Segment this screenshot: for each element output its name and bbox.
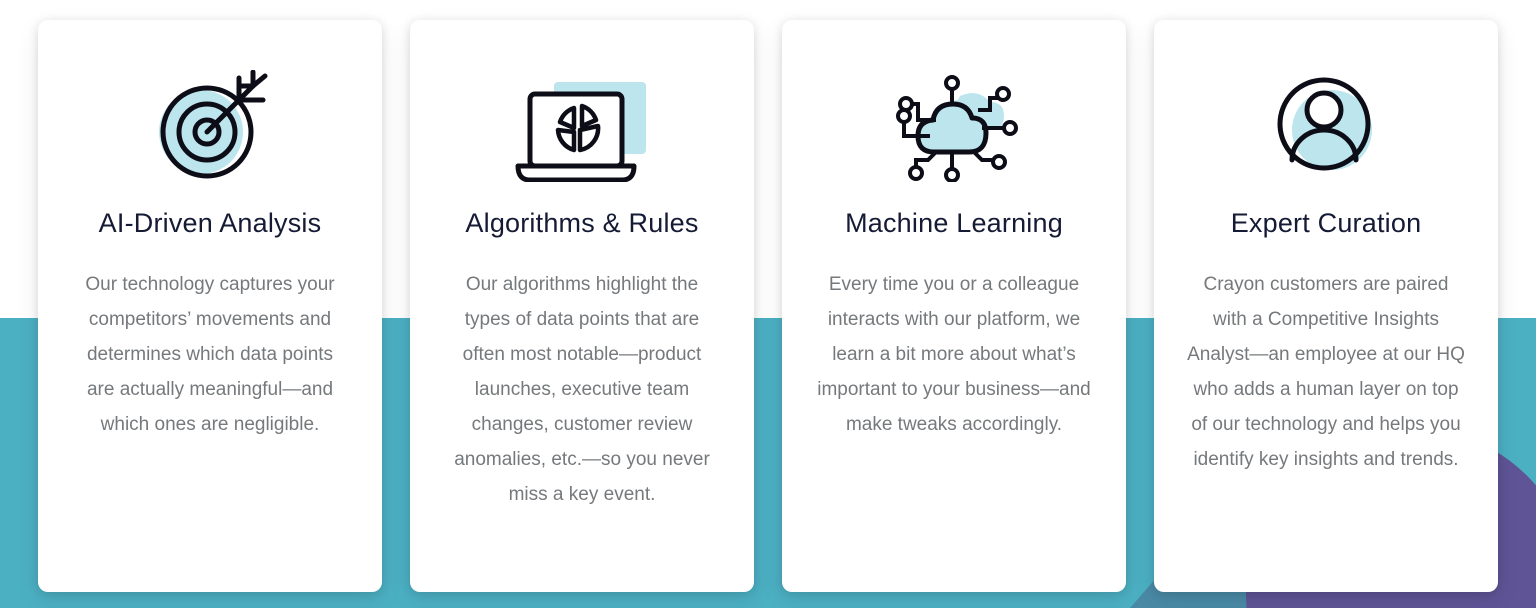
card-body-text: Every time you or a colleague interacts … [815,267,1093,442]
target-arrow-icon [60,66,360,186]
laptop-pie-chart-icon [432,66,732,186]
feature-card-algorithms-and-rules[interactable]: Algorithms & Rules Our algorithms highli… [410,20,754,592]
feature-card-ai-driven-analysis[interactable]: AI-Driven Analysis Our technology captur… [38,20,382,592]
feature-card-machine-learning[interactable]: Machine Learning Every time you or a col… [782,20,1126,592]
card-title: AI-Driven Analysis [99,208,322,239]
feature-card-expert-curation[interactable]: Expert Curation Crayon customers are pai… [1154,20,1498,592]
card-body-text: Our technology captures your competitors… [71,267,349,442]
feature-card-grid: AI-Driven Analysis Our technology captur… [38,20,1498,592]
card-title: Machine Learning [845,208,1063,239]
person-avatar-icon [1176,66,1476,186]
cloud-network-icon [804,66,1104,186]
card-title: Algorithms & Rules [465,208,698,239]
card-body-text: Crayon customers are paired with a Compe… [1187,267,1465,477]
card-body-text: Our algorithms highlight the types of da… [443,267,721,512]
card-title: Expert Curation [1231,208,1422,239]
